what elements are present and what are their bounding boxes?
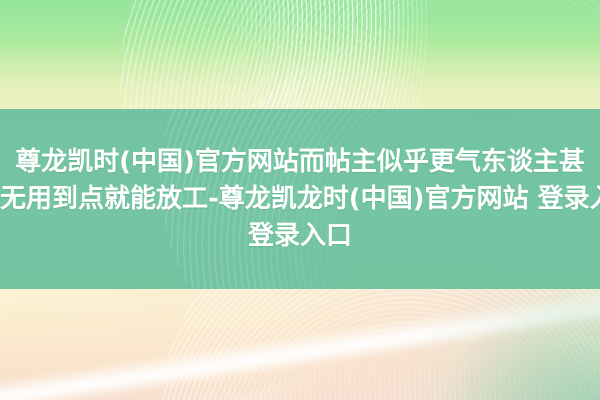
headline-text-block: 尊龙凯时(中国)官方网站而帖主似乎更气东谈主甚 无用到点就能放工-尊龙凯龙时(中… xyxy=(0,109,600,289)
headline-line-2: 无用到点就能放工-尊龙凯龙时(中国)官方网站 登录入 xyxy=(0,181,600,218)
top-gradient-band xyxy=(0,0,600,109)
poster-canvas: 尊龙凯时(中国)官方网站而帖主似乎更气东谈主甚 无用到点就能放工-尊龙凯龙时(中… xyxy=(0,0,600,400)
headline-line-3: 登录入口 xyxy=(248,218,352,255)
headline-line-1: 尊龙凯时(中国)官方网站而帖主似乎更气东谈主甚 xyxy=(0,144,600,181)
green-corner-glow xyxy=(410,289,600,400)
bottom-cream-band xyxy=(0,289,600,400)
